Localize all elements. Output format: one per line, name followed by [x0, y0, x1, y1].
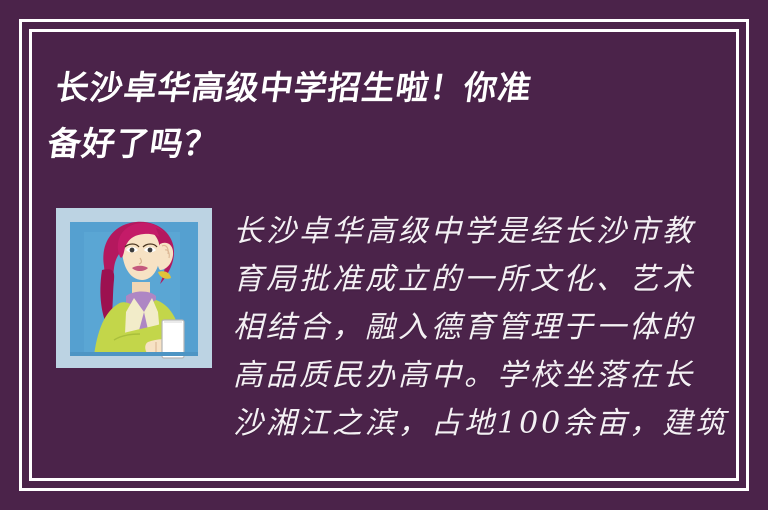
poster-canvas: 长沙卓华高级中学招生啦！你准 备好了吗？: [0, 0, 768, 510]
illustration-svg: [56, 208, 212, 368]
page-title: 长沙卓华高级中学招生啦！你准 备好了吗？: [44, 60, 680, 172]
woman-with-cup-illustration: [56, 208, 212, 368]
description-text: 长沙卓华高级中学是经长沙市教 育局批准成立的一所文化、艺术 相结合，融入德育管理…: [233, 208, 753, 453]
